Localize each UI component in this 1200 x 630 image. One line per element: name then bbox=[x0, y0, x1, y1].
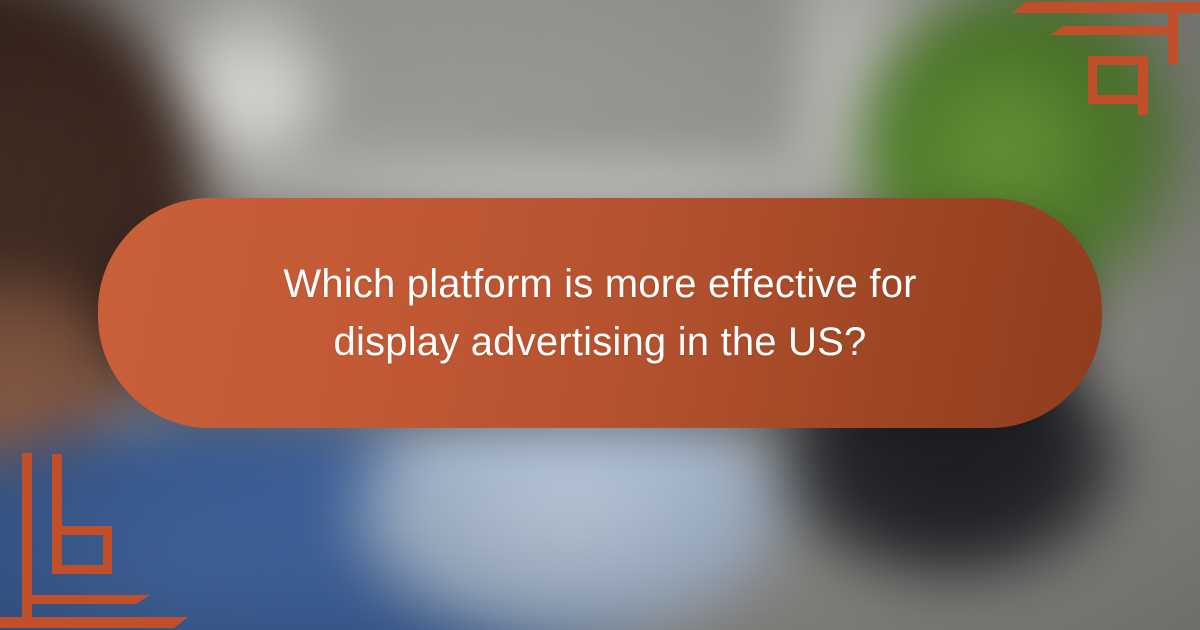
inner-horizontal-bar bbox=[32, 595, 150, 604]
outer-vertical-bar bbox=[1168, 2, 1178, 64]
corner-ornament-top-right bbox=[990, 0, 1200, 115]
long-vertical-bar bbox=[52, 454, 62, 574]
headline-text: Which platform is more effective for dis… bbox=[250, 255, 950, 371]
outer-vertical-bar bbox=[22, 453, 32, 628]
inner-horizontal-bar bbox=[1050, 26, 1168, 35]
corner-ornament-bottom-left bbox=[0, 420, 210, 630]
square-top-edge bbox=[1088, 56, 1148, 65]
square-top-edge bbox=[52, 526, 112, 535]
square-bottom-edge bbox=[1088, 95, 1148, 104]
headline-card: Which platform is more effective for dis… bbox=[98, 198, 1102, 428]
promo-banner: Which platform is more effective for dis… bbox=[0, 0, 1200, 630]
